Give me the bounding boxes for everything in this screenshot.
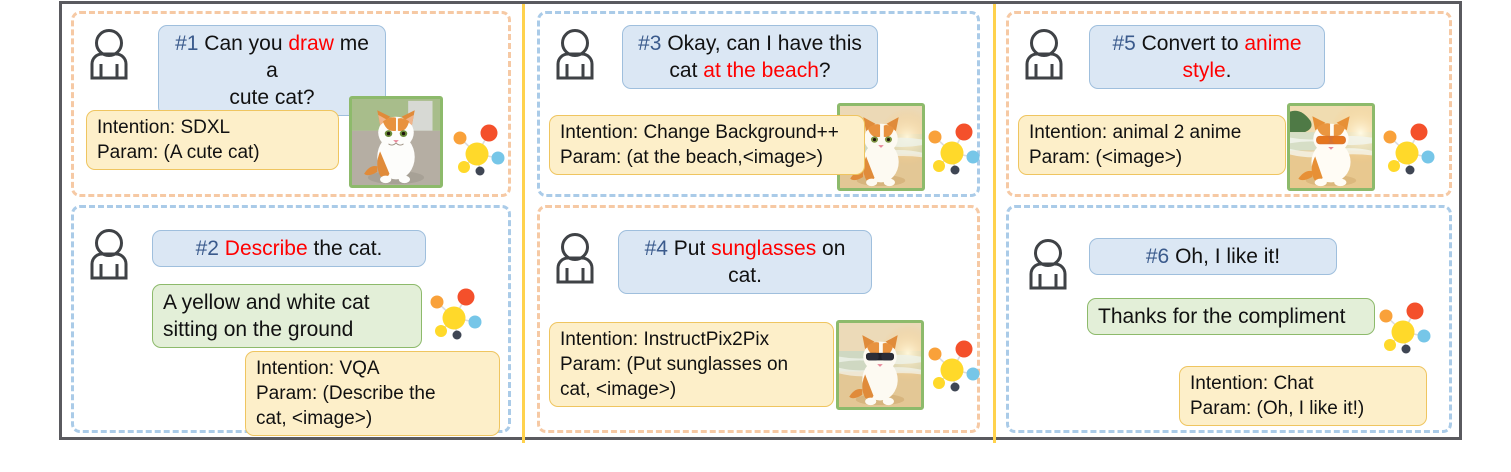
param-label: Param: (Oh, I like it!) bbox=[1190, 396, 1416, 421]
user-avatar-icon bbox=[552, 28, 598, 80]
dialogue-panel-6: #6 Oh, I like it! Thanks for the complim… bbox=[1006, 205, 1452, 433]
model-cluster-logo bbox=[924, 119, 982, 181]
user-message-bubble: #4 Put sunglasses on cat. bbox=[618, 230, 872, 294]
param-label: Param: (<image>) bbox=[1029, 145, 1275, 170]
user-message-bubble: #3 Okay, can I have this cat at the beac… bbox=[622, 25, 878, 89]
user-avatar-icon bbox=[86, 228, 132, 280]
dialogue-panel-3: #3 Okay, can I have this cat at the beac… bbox=[537, 11, 980, 197]
user-message-bubble: #5 Convert to anime style. bbox=[1089, 25, 1325, 89]
model-cluster-logo bbox=[449, 120, 507, 182]
dialogue-panel-2: #2 Describe the cat. A yellow and white … bbox=[71, 205, 511, 433]
message-index: #1 bbox=[175, 32, 198, 55]
user-avatar-icon bbox=[1025, 238, 1071, 290]
intention-bubble: Intention: ChatParam: (Oh, I like it!) bbox=[1179, 366, 1427, 426]
user-avatar-icon bbox=[552, 232, 598, 284]
param-label: Param: (at the beach,<image>) bbox=[560, 145, 854, 170]
column-divider-2 bbox=[993, 4, 996, 443]
intention-label: Intention: Change Background++ bbox=[560, 120, 854, 145]
generated-cat-image bbox=[836, 320, 924, 410]
dialogue-panel-1: #1 Can you draw me a cute cat? bbox=[71, 11, 511, 197]
intention-label: Intention: InstructPix2Pix bbox=[560, 327, 823, 352]
intention-bubble: Intention: VQAParam: (Describe the cat, … bbox=[245, 351, 500, 436]
user-message-bubble: #2 Describe the cat. bbox=[152, 230, 426, 267]
message-index: #2 bbox=[196, 237, 219, 260]
generated-cat-image bbox=[1287, 103, 1375, 191]
message-index: #6 bbox=[1146, 245, 1169, 268]
message-index: #4 bbox=[645, 237, 668, 260]
intention-label: Intention: VQA bbox=[256, 356, 489, 381]
intention-label: Intention: animal 2 anime bbox=[1029, 120, 1275, 145]
intention-bubble: Intention: animal 2 animeParam: (<image>… bbox=[1018, 115, 1286, 175]
intention-label: Intention: Chat bbox=[1190, 371, 1416, 396]
assistant-answer-bubble: A yellow and white cat sitting on the gr… bbox=[152, 284, 422, 348]
model-cluster-logo bbox=[924, 336, 982, 398]
user-message-bubble: #6 Oh, I like it! bbox=[1089, 238, 1337, 275]
column-divider-1 bbox=[522, 4, 525, 443]
dialogue-panel-5: #5 Convert to anime style. bbox=[1006, 11, 1452, 197]
intention-bubble: Intention: SDXLParam: (A cute cat) bbox=[86, 110, 339, 170]
param-label: Param: (Put sunglasses on cat, <image>) bbox=[560, 352, 823, 402]
model-cluster-logo bbox=[426, 284, 484, 346]
dialogue-panel-4: #4 Put sunglasses on cat. bbox=[537, 205, 980, 433]
intention-bubble: Intention: InstructPix2PixParam: (Put su… bbox=[549, 322, 834, 407]
intention-label: Intention: SDXL bbox=[97, 115, 328, 140]
param-label: Param: (Describe the cat, <image>) bbox=[256, 381, 489, 431]
param-label: Param: (A cute cat) bbox=[97, 140, 328, 165]
model-cluster-logo bbox=[1375, 298, 1433, 360]
message-index: #3 bbox=[638, 32, 661, 55]
intention-bubble: Intention: Change Background++Param: (at… bbox=[549, 115, 865, 175]
figure-outer-frame: #1 Can you draw me a cute cat? bbox=[59, 1, 1462, 440]
user-avatar-icon bbox=[1021, 28, 1067, 80]
assistant-answer-bubble: Thanks for the compliment bbox=[1087, 298, 1375, 335]
generated-cat-image bbox=[349, 96, 443, 188]
message-index: #5 bbox=[1112, 32, 1135, 55]
user-avatar-icon bbox=[86, 28, 132, 80]
figure-root: #1 Can you draw me a cute cat? bbox=[0, 0, 1511, 472]
model-cluster-logo bbox=[1379, 119, 1437, 181]
